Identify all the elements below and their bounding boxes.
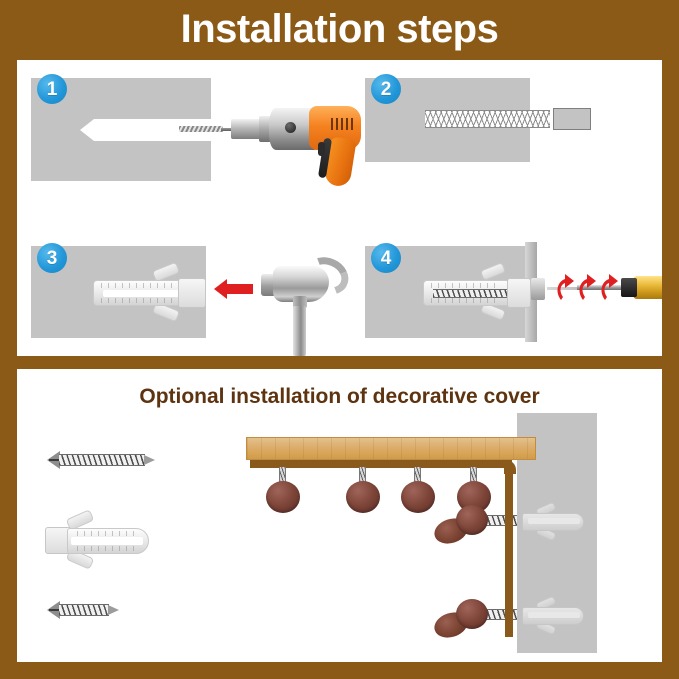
short-screw-tip <box>108 605 119 615</box>
drill-trigger <box>318 142 325 156</box>
step-number-1: 1 <box>47 80 58 99</box>
long-screw <box>47 449 162 471</box>
short-screw <box>47 599 127 621</box>
step-number-3: 3 <box>47 249 58 268</box>
long-screw-shank <box>59 454 145 466</box>
expansion-anchor <box>425 110 550 128</box>
cover-section-title: Optional installation of decorative cove… <box>17 385 662 409</box>
step-4-cell: 4 <box>365 240 655 355</box>
screwdriver-handle <box>633 276 662 299</box>
step-badge-4: 4 <box>371 243 401 273</box>
parts-column <box>37 449 182 644</box>
title-bar: Installation steps <box>0 0 679 58</box>
step-3-cell: 3 <box>31 240 341 355</box>
nylon-wall-anchor <box>45 517 160 563</box>
l-bracket-vertical <box>505 467 513 637</box>
embedded-wall-anchor-upper <box>522 505 597 539</box>
anchor-collar <box>178 278 206 308</box>
cap-base-upper <box>456 505 488 535</box>
assembly-illustration <box>192 409 662 662</box>
anchor-ridges <box>101 283 173 288</box>
screw-head-flange <box>531 278 545 300</box>
step-badge-1: 1 <box>37 74 67 104</box>
decorative-cover-cap <box>346 481 380 513</box>
red-arrow-shaft <box>227 284 253 294</box>
screwdriver-ferrule <box>621 278 637 297</box>
step-number-4: 4 <box>381 249 392 268</box>
expansion-anchor <box>93 270 203 316</box>
anchor-ridges-lower <box>77 546 139 551</box>
decorative-cover-cap <box>401 481 435 513</box>
step-badge-3: 3 <box>37 243 67 273</box>
anchor-collar <box>553 108 591 130</box>
step-badge-2: 2 <box>371 74 401 104</box>
anchor-ridges <box>431 283 501 288</box>
claw-hammer <box>261 244 357 356</box>
expansion-anchor <box>423 270 528 316</box>
page-title: Installation steps <box>181 9 499 49</box>
drill-bit <box>179 126 223 132</box>
step-number-2: 2 <box>381 80 392 99</box>
drilled-hole-tip <box>80 119 94 141</box>
decorative-cover-panel: Optional installation of decorative cove… <box>17 369 662 662</box>
anchor-ridges-lower <box>431 298 501 303</box>
drill-gearbox-dot <box>285 122 296 133</box>
anchor-slot <box>103 290 179 297</box>
cap-base-lower <box>456 599 488 629</box>
red-arrow-head <box>214 279 227 299</box>
electric-drill <box>181 80 351 185</box>
short-screw-shank <box>59 604 109 616</box>
anchor-slot <box>528 518 580 524</box>
long-screw-tip <box>144 455 155 465</box>
drill-vents <box>331 118 353 130</box>
anchor-slot <box>71 537 143 545</box>
anchor-slot <box>528 612 580 618</box>
steps-panel: 1 2 <box>17 60 662 356</box>
infographic-root: Installation steps 1 <box>0 0 679 679</box>
anchor-collar <box>507 278 531 308</box>
step-2-cell: 2 <box>365 70 655 200</box>
anchor-ridges-lower <box>101 298 173 303</box>
wood-grain <box>247 438 535 459</box>
drill-chuck <box>231 119 261 139</box>
hammer-handle <box>293 306 306 356</box>
step-1-cell: 1 <box>31 70 341 200</box>
embedded-wall-anchor-lower <box>522 599 597 633</box>
anchor-ridges <box>77 531 139 536</box>
decorative-cover-cap <box>266 481 300 513</box>
